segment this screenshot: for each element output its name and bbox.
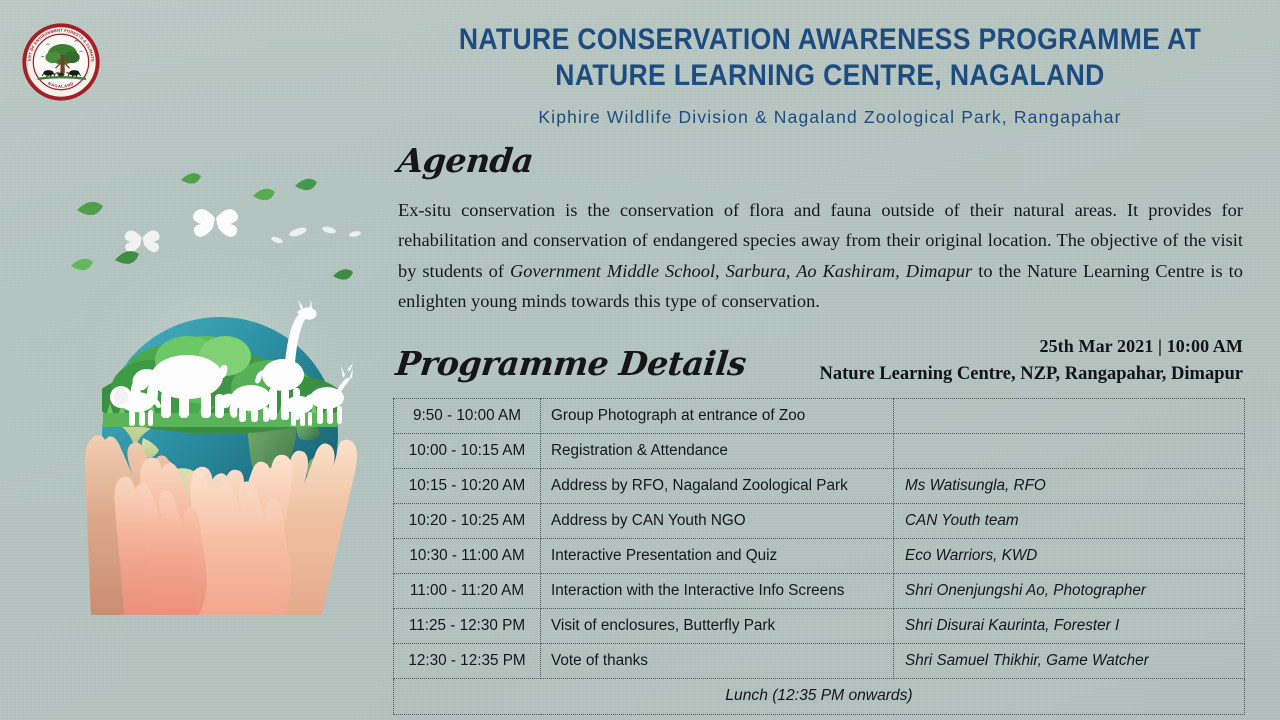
row-person — [894, 434, 1245, 469]
table-row: 10:15 - 10:20 AM Address by RFO, Nagalan… — [394, 469, 1245, 504]
table-row: 11:25 - 12:30 PM Visit of enclosures, Bu… — [394, 609, 1245, 644]
row-person: Shri Samuel Thikhir, Game Watcher — [894, 644, 1245, 679]
row-description: Interactive Presentation and Quiz — [541, 539, 894, 574]
programme-datetime: 25th Mar 2021 | 10:00 AM — [723, 336, 1243, 357]
row-time: 9:50 - 10:00 AM — [394, 399, 541, 434]
row-description: Visit of enclosures, Butterfly Park — [541, 609, 894, 644]
row-person: Eco Warriors, KWD — [894, 539, 1245, 574]
table-row: 11:00 - 11:20 AM Interaction with the In… — [394, 574, 1245, 609]
row-time: 10:15 - 10:20 AM — [394, 469, 541, 504]
table-row: 10:20 - 10:25 AM Address by CAN Youth NG… — [394, 504, 1245, 539]
agenda-paragraph: Ex-situ conservation is the conservation… — [398, 195, 1243, 316]
row-time: 11:00 - 11:20 AM — [394, 574, 541, 609]
row-description: Vote of thanks — [541, 644, 894, 679]
department-emblem-logo: DEPARTMENT OF ENVIRONMENT FORESTS & CLIM… — [22, 23, 100, 101]
table-row: 9:50 - 10:00 AM Group Photograph at entr… — [394, 399, 1245, 434]
row-time: 10:30 - 11:00 AM — [394, 539, 541, 574]
row-description: Address by CAN Youth NGO — [541, 504, 894, 539]
programme-meta: 25th Mar 2021 | 10:00 AM Nature Learning… — [723, 336, 1243, 385]
row-description: Interaction with the Interactive Info Sc… — [541, 574, 894, 609]
table-row-footer: Lunch (12:35 PM onwards) — [394, 679, 1245, 715]
schedule-body: 9:50 - 10:00 AM Group Photograph at entr… — [394, 399, 1245, 715]
page-subtitle: Kiphire Wildlife Division & Nagaland Zoo… — [390, 107, 1270, 128]
row-time: 11:25 - 12:30 PM — [394, 609, 541, 644]
agenda-heading: Agenda — [396, 141, 535, 180]
programme-details-heading: Programme Details — [394, 344, 748, 383]
table-row: 10:30 - 11:00 AM Interactive Presentatio… — [394, 539, 1245, 574]
row-person: Shri Onenjungshi Ao, Photographer — [894, 574, 1245, 609]
row-person: CAN Youth team — [894, 504, 1245, 539]
row-time: 12:30 - 12:35 PM — [394, 644, 541, 679]
table-row: 10:00 - 10:15 AM Registration & Attendan… — [394, 434, 1245, 469]
row-time: 10:00 - 10:15 AM — [394, 434, 541, 469]
programme-schedule-table: 9:50 - 10:00 AM Group Photograph at entr… — [393, 398, 1245, 715]
poster-header: NATURE CONSERVATION AWARENESS PROGRAMME … — [390, 22, 1270, 128]
row-description: Group Photograph at entrance of Zoo — [541, 399, 894, 434]
table-row: 12:30 - 12:35 PM Vote of thanks Shri Sam… — [394, 644, 1245, 679]
row-person: Shri Disurai Kaurinta, Forester I — [894, 609, 1245, 644]
programme-venue: Nature Learning Centre, NZP, Rangapahar,… — [723, 364, 1243, 385]
earth-wildlife-illustration — [55, 170, 385, 615]
row-time: 10:20 - 10:25 AM — [394, 504, 541, 539]
agenda-text-emphasis: Government Middle School, Sarbura, Ao Ka… — [510, 261, 972, 281]
row-description: Registration & Attendance — [541, 434, 894, 469]
lunch-note: Lunch (12:35 PM onwards) — [394, 679, 1245, 715]
row-person: Ms Watisungla, RFO — [894, 469, 1245, 504]
row-description: Address by RFO, Nagaland Zoological Park — [541, 469, 894, 504]
page-title: NATURE CONSERVATION AWARENESS PROGRAMME … — [434, 22, 1226, 94]
row-person — [894, 399, 1245, 434]
